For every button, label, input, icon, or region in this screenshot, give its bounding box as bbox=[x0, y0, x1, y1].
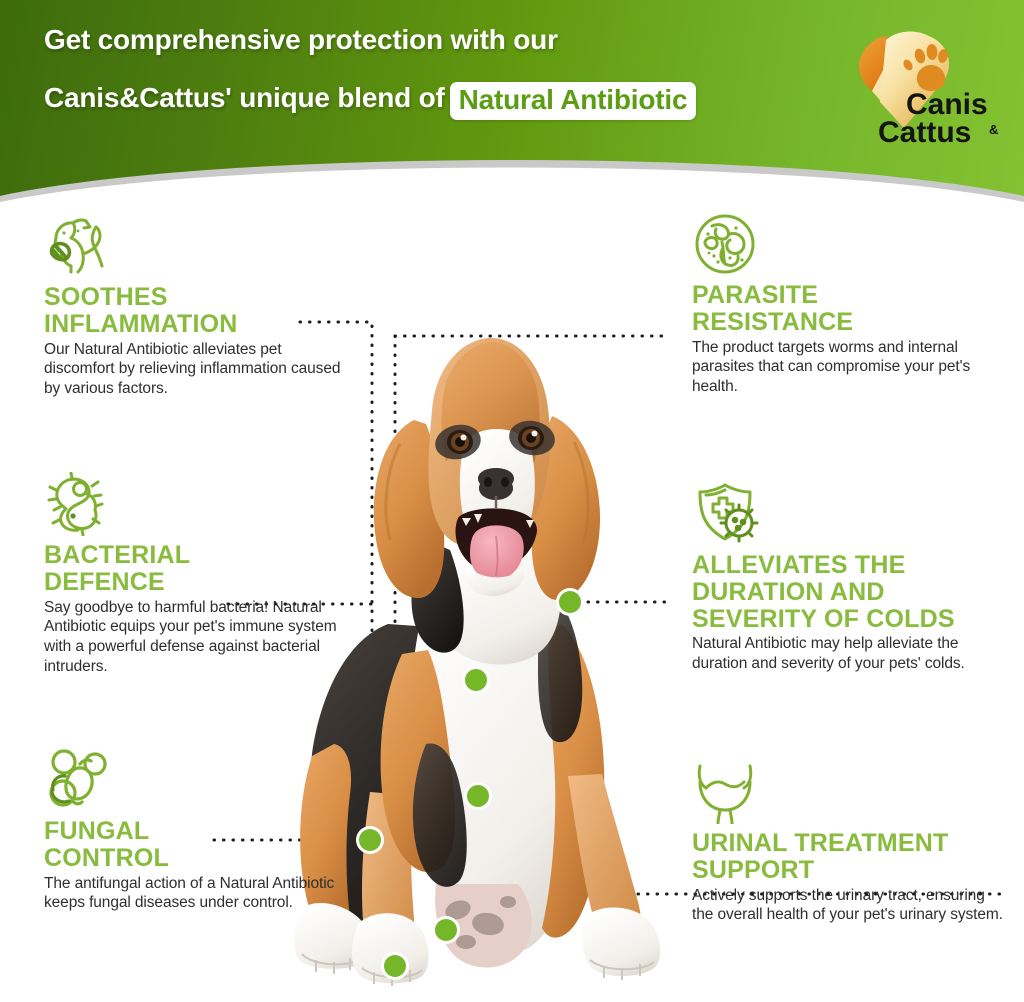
marker-dot-groin[interactable] bbox=[432, 916, 460, 944]
headline: Get comprehensive protection with our Ca… bbox=[44, 26, 844, 118]
marker-dot-belly[interactable] bbox=[464, 782, 492, 810]
feature-title: FUNGAL CONTROL bbox=[44, 818, 344, 872]
feature-title-line-2: INFLAMMATION bbox=[44, 310, 238, 338]
feature-title-line-1: SOOTHES bbox=[44, 283, 168, 311]
feature-title: SOOTHES INFLAMMATION bbox=[44, 284, 344, 338]
dog-bandaged-leg-icon bbox=[44, 214, 122, 278]
bladder-urinary-tract-icon bbox=[692, 760, 770, 824]
feature-title: BACTERIAL DEFENCE bbox=[44, 542, 344, 596]
feature-title-line-2: RESISTANCE bbox=[692, 308, 853, 336]
feature-title-line-2: DEFENCE bbox=[44, 568, 165, 596]
logo-ampersand: & bbox=[989, 122, 998, 137]
feature-title: PARASITE RESISTANCE bbox=[692, 282, 1004, 336]
header-arch-divider bbox=[0, 142, 1024, 212]
feature-body: Say goodbye to harmful bacteria! Natural… bbox=[44, 598, 344, 677]
feature-title-line-2: CONTROL bbox=[44, 844, 169, 872]
brand-logo[interactable]: Canis Cattus & bbox=[846, 22, 1014, 148]
feature-body: The antifungal action of a Natural Antib… bbox=[44, 874, 344, 914]
feature-title-line-1: PARASITE bbox=[692, 281, 818, 309]
feature-parasite-resistance: PARASITE RESISTANCE The product targets … bbox=[692, 212, 1004, 397]
highlight-badge: Natural Antibiotic bbox=[450, 82, 697, 120]
feature-title-line-1: ALLEVIATES THE bbox=[692, 551, 905, 579]
feature-title-line-3: SEVERITY OF COLDS bbox=[692, 605, 955, 633]
petri-dish-worms-icon bbox=[692, 212, 770, 276]
infographic-page: Get comprehensive protection with our Ca… bbox=[0, 0, 1024, 1002]
feature-alleviates-colds: ALLEVIATES THE DURATION AND SEVERITY OF … bbox=[692, 482, 1004, 674]
feature-body: Our Natural Antibiotic alleviates pet di… bbox=[44, 340, 344, 399]
marker-dot-flank[interactable] bbox=[356, 826, 384, 854]
feature-soothes-inflammation: SOOTHES INFLAMMATION Our Natural Antibio… bbox=[44, 214, 344, 399]
feature-title-line-2: DURATION AND bbox=[692, 578, 885, 606]
feature-bacterial-defence: BACTERIAL DEFENCE Say goodbye to harmful… bbox=[44, 472, 344, 677]
headline-line-2: Canis&Cattus' unique blend ofNatural Ant… bbox=[44, 80, 844, 118]
feature-title-line-1: BACTERIAL bbox=[44, 541, 190, 569]
feature-fungal-control: FUNGAL CONTROL The antifungal action of … bbox=[44, 748, 344, 913]
feature-title: ALLEVIATES THE DURATION AND SEVERITY OF … bbox=[692, 552, 1004, 632]
marker-dot-shoulder[interactable] bbox=[556, 588, 584, 616]
shield-virus-protection-icon bbox=[692, 482, 770, 546]
logo-name-cattus: Cattus bbox=[878, 116, 971, 148]
feature-urinal-treatment-support: URINAL TREATMENT SUPPORT Actively suppor… bbox=[692, 760, 1004, 925]
headline-line-2-prefix: Canis&Cattus' unique blend of bbox=[44, 82, 445, 113]
headline-line-1: Get comprehensive protection with our bbox=[44, 26, 844, 54]
marker-dot-chest[interactable] bbox=[462, 666, 490, 694]
feature-title: URINAL TREATMENT SUPPORT bbox=[692, 830, 1004, 884]
marker-dot-paw[interactable] bbox=[381, 952, 409, 980]
feature-title-line-1: FUNGAL bbox=[44, 817, 149, 845]
fungus-spores-icon bbox=[44, 748, 122, 812]
feature-body: The product targets worms and internal p… bbox=[692, 338, 1004, 397]
bacteria-cell-icon bbox=[44, 472, 122, 536]
feature-body: Actively supports the urinary tract, ens… bbox=[692, 886, 1004, 926]
feature-body: Natural Antibiotic may help alleviate th… bbox=[692, 634, 1004, 674]
feature-title-line-1: URINAL TREATMENT bbox=[692, 829, 948, 857]
feature-title-line-2: SUPPORT bbox=[692, 856, 814, 884]
